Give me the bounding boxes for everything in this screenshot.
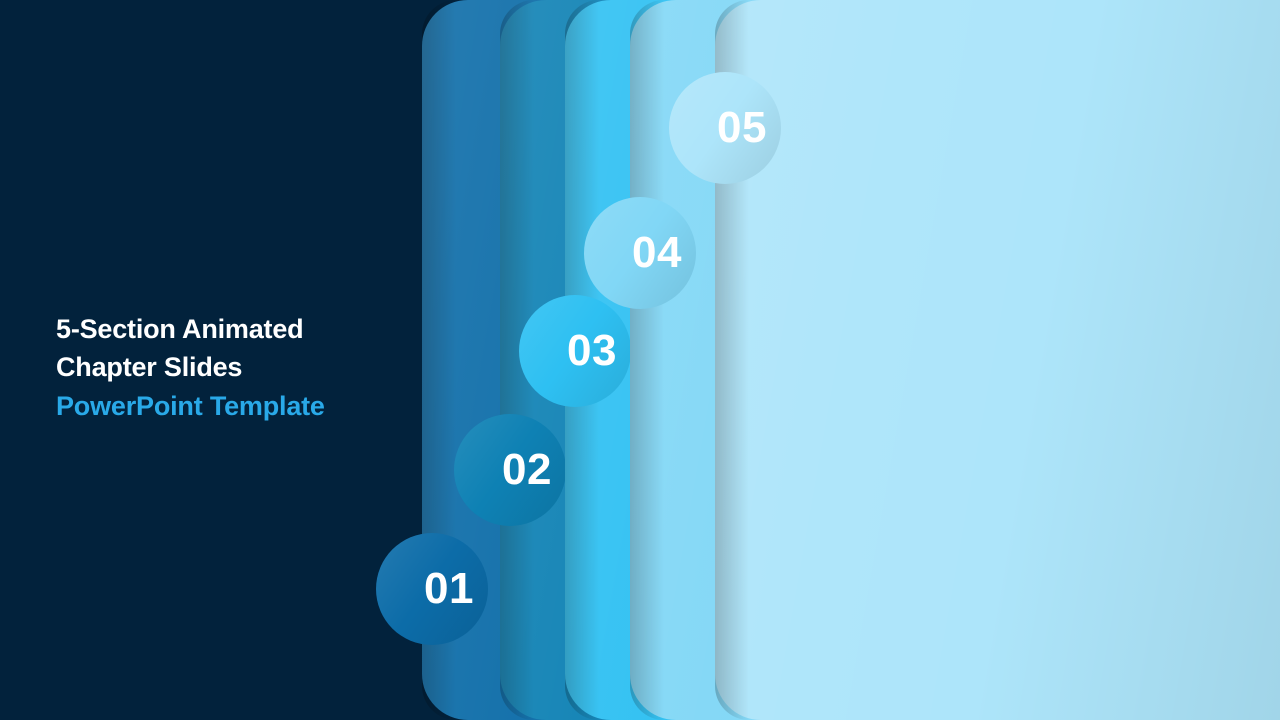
chapter-number-label: 04	[632, 228, 682, 278]
chapter-number-circle-04[interactable]: 04	[584, 197, 696, 309]
chapter-number-circle-01[interactable]: 01	[376, 533, 488, 645]
chapter-number-label: 01	[424, 564, 474, 614]
chapter-number-label: 03	[567, 326, 617, 376]
chapter-number-label: 05	[717, 103, 767, 153]
panel-sheen	[715, 0, 1280, 720]
chapter-number-circle-05[interactable]: 05	[669, 72, 781, 184]
chapter-number-circle-02[interactable]: 02	[454, 414, 566, 526]
slide-canvas: 5-Section Animated Chapter Slides PowerP…	[0, 0, 1280, 720]
chapter-panel-stack: 0102030405	[0, 0, 1280, 720]
chapter-panel-05[interactable]	[715, 0, 1280, 720]
panel-edge-shadow	[630, 0, 664, 720]
chapter-number-circle-03[interactable]: 03	[519, 295, 631, 407]
chapter-number-label: 02	[502, 445, 552, 495]
